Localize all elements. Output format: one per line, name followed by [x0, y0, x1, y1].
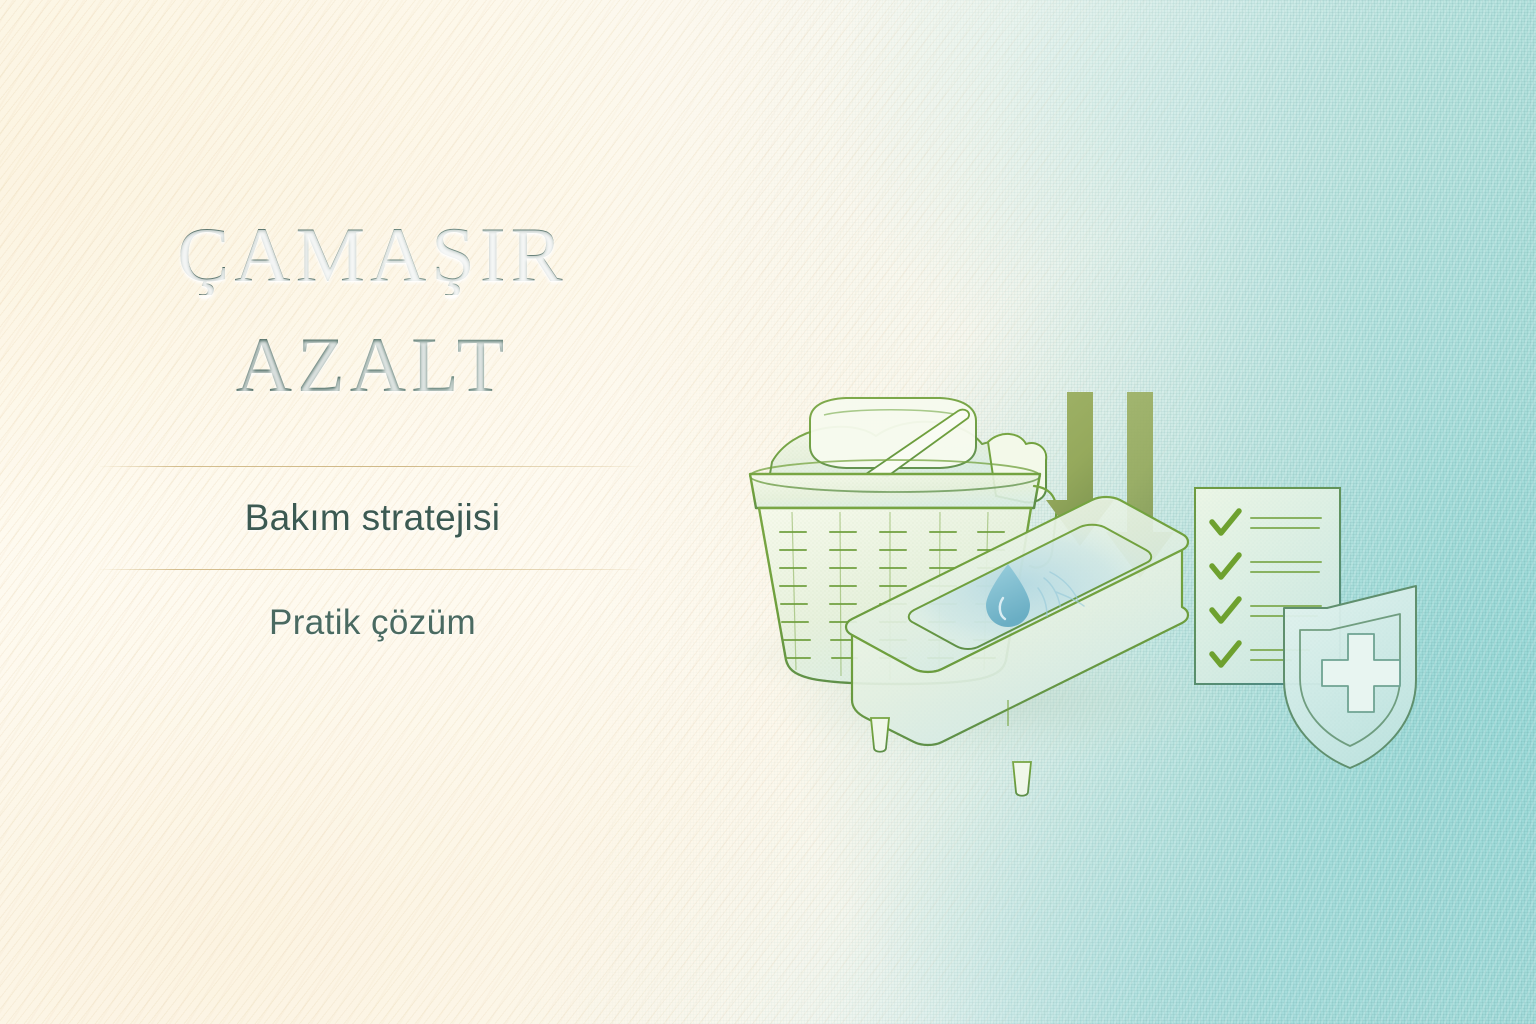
headline-text-block: ÇAMAŞIR AZALT Bakım stratejisi Pratik çö… [100, 215, 645, 643]
divider-bottom [100, 569, 645, 570]
protection-shield-icon [1284, 586, 1416, 768]
poster-canvas: ÇAMAŞIR AZALT Bakım stratejisi Pratik çö… [0, 0, 1536, 1024]
subtitle: Bakım stratejisi [100, 467, 645, 569]
laundry-care-illustration [700, 370, 1470, 800]
tagline: Pratik çözüm [100, 603, 645, 643]
page-title-line-1: ÇAMAŞIR [100, 215, 645, 295]
page-title-line-2: AZALT [100, 325, 645, 405]
